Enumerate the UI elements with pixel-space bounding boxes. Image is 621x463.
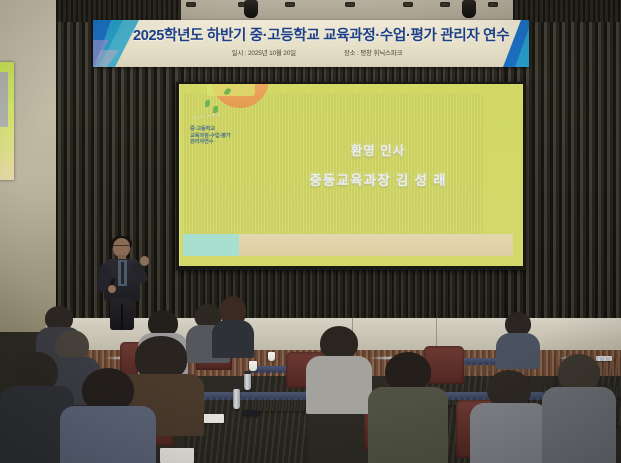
slide-corner-line-3: 관리자연수 [190,139,231,146]
leaf-icon [205,100,210,107]
table-row-mid [186,398,306,463]
tumbler-cap-icon [233,386,240,389]
tumbler-icon [233,389,240,409]
attendee [368,352,448,463]
attendee [470,370,548,463]
banner-place: 장소 : 평창 휘닉스파크 [344,47,402,57]
handout-paper [160,448,194,463]
attendee [542,354,616,463]
projection-screen: 2025 하반기 중·고등학교 교육과정-수업-평가 관리자연수 환영 인사 중… [179,84,523,266]
attendee-torso [60,406,156,463]
curtain-top-right [513,0,621,22]
ceiling-light-icon [440,2,450,7]
slide-subhead: 중등교육과장 김 성 래 [239,169,517,189]
glasses-icon [113,245,130,249]
slide-corner-text: 중·고등학교 교육과정-수업-평가 관리자연수 [190,126,231,146]
tumbler-cap-icon [244,371,251,374]
slide-main-text: 환영 인사 중등교육과장 김 성 래 [239,140,517,189]
side-display-content [0,72,8,127]
ceiling-light-icon [186,2,196,7]
stage-spotlight-icon [244,0,258,18]
attendee-torso [470,403,548,463]
ceiling-light-icon [285,2,295,7]
banner-title: 2025학년도 하반기 중·고등학교 교육과정·수업·평가 관리자 연수 [133,24,501,45]
curtain-top-left [56,0,181,22]
attendee-torso [542,387,616,463]
presenter-hand-left [108,285,116,293]
banner-date: 일시 : 2025년 10월 20일 [232,47,296,57]
smartphone-icon [243,410,259,416]
slide-mint-block [183,234,239,256]
attendee [60,368,156,463]
attendee-torso [368,387,448,463]
tumbler-icon [244,373,251,390]
event-banner: 2025학년도 하반기 중·고등학교 교육과정·수업·평가 관리자 연수 일시 … [93,20,529,67]
ceiling-light-icon [345,2,355,7]
presenter-tie [121,262,124,284]
presenter-leg-gap [121,304,123,330]
paper-cup-icon [249,361,257,371]
attendee [496,312,540,364]
attendee-torso [496,333,540,369]
attendee [306,326,372,412]
presenter-hand-right [140,256,149,266]
attendee-head [385,352,431,392]
banner-subtitle: 일시 : 2025년 10월 20일 장소 : 평창 휘닉스파크 [133,47,501,57]
attendee-torso [306,356,372,414]
paper-cup-icon [268,352,275,361]
attendee-torso [212,320,254,358]
stage-spotlight-icon [462,0,476,18]
ceiling-light-icon [403,2,413,7]
slide-headline: 환영 인사 [239,140,517,159]
ceiling-light-icon [488,2,498,7]
attendee-head [320,326,358,360]
attendee [212,296,254,354]
auditorium-photo: 2025학년도 하반기 중·고등학교 교육과정·수업·평가 관리자 연수 일시 … [0,0,621,463]
